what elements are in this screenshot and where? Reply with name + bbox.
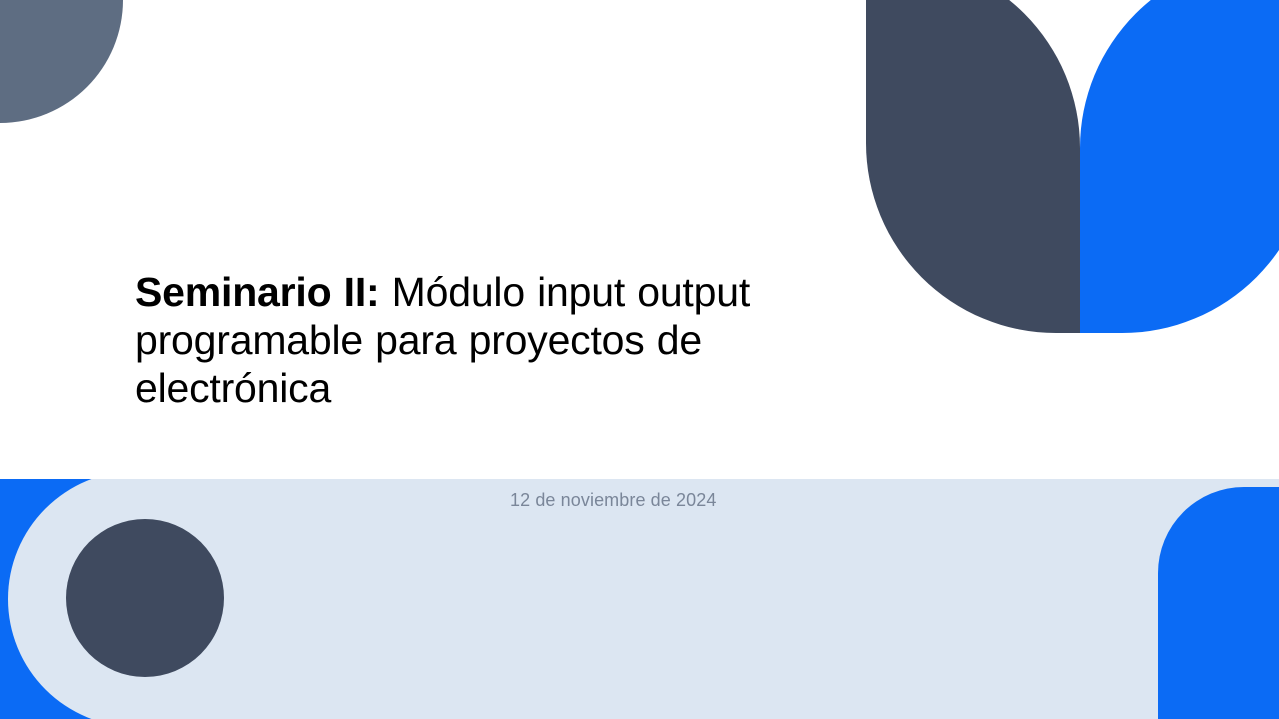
corner-circle-decoration	[0, 0, 123, 123]
footer-circle-decoration	[66, 519, 224, 677]
leaf-blue-decoration	[1080, 0, 1279, 333]
slide-date: 12 de noviembre de 2024	[510, 488, 716, 512]
title-lead: Seminario II:	[135, 269, 379, 315]
title-block: Seminario II: Módulo input output progra…	[135, 268, 895, 412]
footer-blue-block-decoration	[1158, 487, 1279, 719]
presentation-slide: Seminario II: Módulo input output progra…	[0, 0, 1279, 719]
footer-band	[0, 479, 1279, 719]
leaf-dark-decoration	[866, 0, 1080, 333]
page-title: Seminario II: Módulo input output progra…	[135, 268, 895, 412]
